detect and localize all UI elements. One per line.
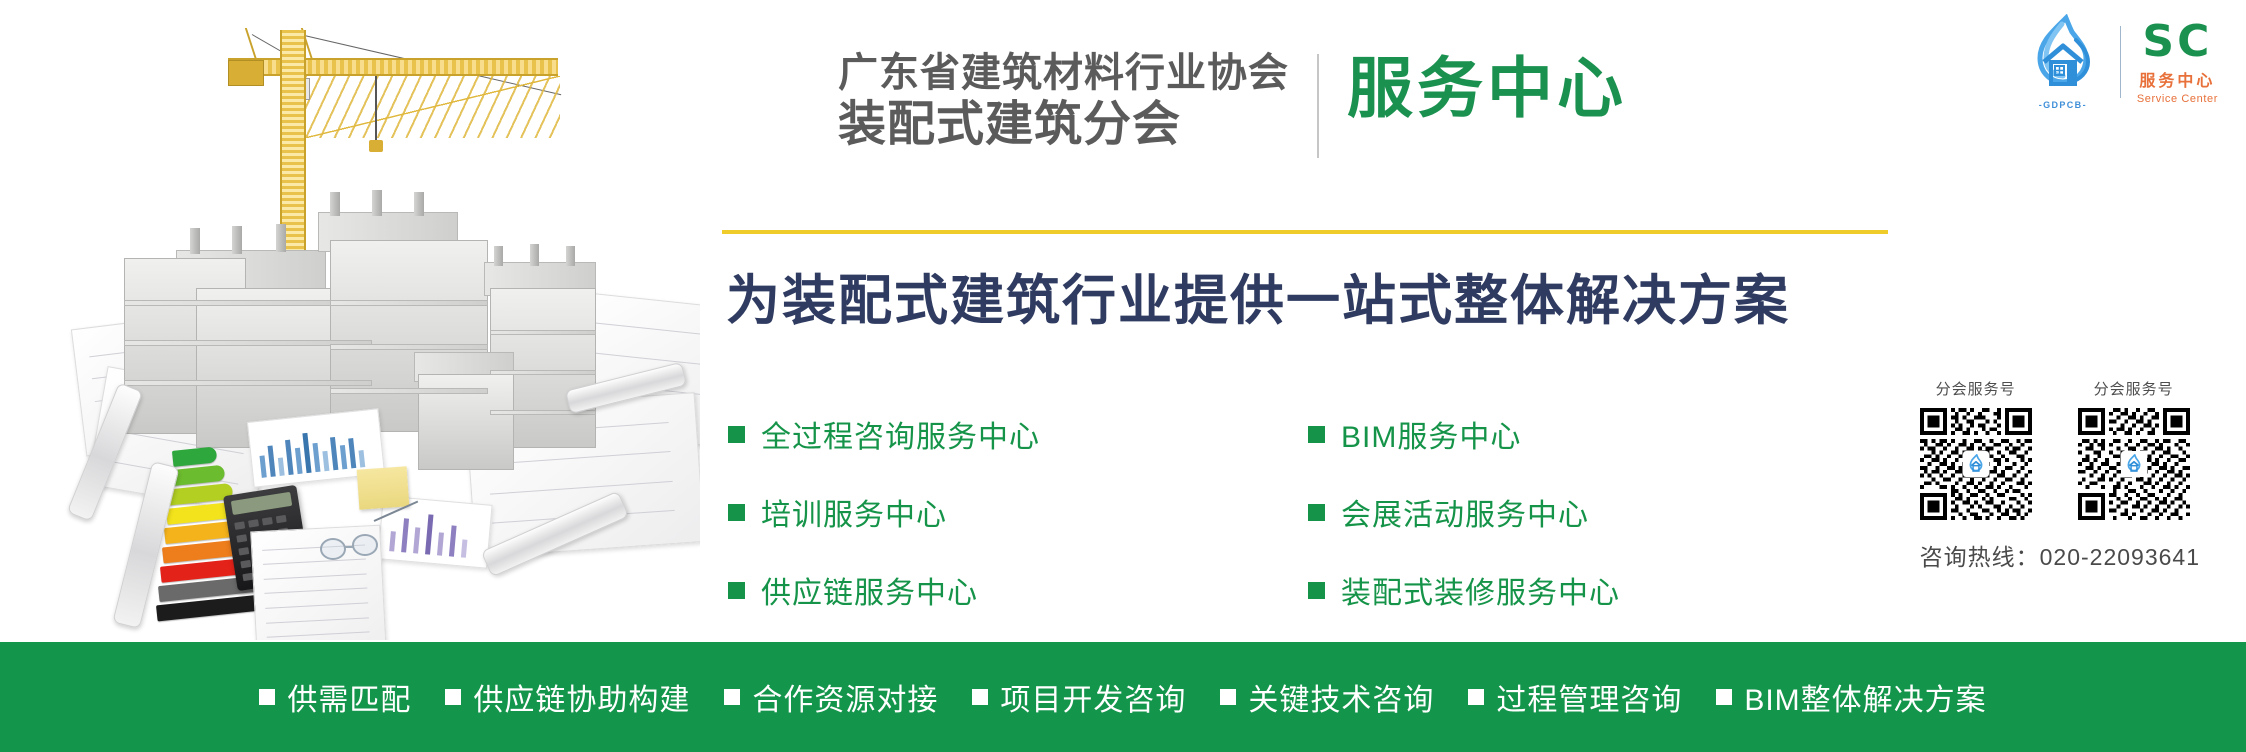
gdpcb-caption: -GDPCB-: [2022, 100, 2104, 110]
footer-item-label: 供应链协助构建: [473, 675, 690, 719]
square-bullet-icon: [972, 689, 988, 705]
tagline: 为装配式建筑行业提供一站式整体解决方案: [726, 256, 1790, 335]
qr-code-caption: 分会服务号: [1936, 378, 2016, 399]
footer-item-label: 合作资源对接: [752, 675, 938, 719]
association-name: 广东省建筑材料行业协会 装配式建筑分会: [838, 50, 1289, 153]
footer-item-label: 关键技术咨询: [1248, 675, 1434, 719]
association-name-line1: 广东省建筑材料行业协会: [838, 50, 1289, 97]
service-list-item[interactable]: 培训服务中心: [728, 490, 1308, 534]
service-list-left-column: 全过程咨询服务中心 培训服务中心 供应链服务中心: [728, 412, 1308, 612]
square-bullet-icon: [1308, 426, 1325, 443]
sc-english-label: Service Center: [2137, 93, 2218, 105]
service-center-title: 服务中心: [1347, 50, 1627, 128]
square-bullet-icon: [445, 689, 461, 705]
hotline-text: 咨询热线：020-22093641: [1920, 538, 2200, 572]
footer-service-bar: 供需匹配 供应链协助构建 合作资源对接 项目开发咨询 关键技术咨询 过程管理咨询…: [0, 642, 2246, 752]
service-center-list: 全过程咨询服务中心 培训服务中心 供应链服务中心 BIM服务中心 会展活动服务中…: [728, 412, 1620, 612]
footer-item[interactable]: 项目开发咨询: [972, 675, 1186, 719]
sc-chinese-label: 服务中心: [2139, 67, 2215, 91]
footer-item[interactable]: 过程管理咨询: [1468, 675, 1682, 719]
service-list-item-label: 装配式装修服务中心: [1341, 568, 1620, 612]
service-list-item-label: 供应链服务中心: [761, 568, 978, 612]
qr-code-caption: 分会服务号: [2094, 378, 2174, 399]
footer-item[interactable]: BIM整体解决方案: [1716, 675, 1986, 719]
service-list-item[interactable]: 会展活动服务中心: [1308, 490, 1620, 534]
service-list-item-label: 全过程咨询服务中心: [761, 412, 1040, 456]
qr-center-logo-icon: [2121, 451, 2147, 477]
square-bullet-icon: [728, 426, 745, 443]
association-name-line2: 装配式建筑分会: [838, 97, 1289, 153]
qr-contact-section: 分会服务号: [1920, 378, 2200, 572]
square-bullet-icon: [1220, 689, 1236, 705]
service-list-item[interactable]: 装配式装修服务中心: [1308, 568, 1620, 612]
footer-item[interactable]: 关键技术咨询: [1220, 675, 1434, 719]
sc-service-center-logo: SC 服务中心 Service Center: [2137, 20, 2218, 105]
qr-code-icon[interactable]: [2078, 408, 2190, 520]
blue-flame-house-icon: [2022, 14, 2104, 96]
square-bullet-icon: [1308, 504, 1325, 521]
footer-item-label: BIM整体解决方案: [1744, 675, 1986, 719]
gdpcb-logo: -GDPCB-: [2022, 14, 2104, 110]
footer-item-label: 供需匹配: [287, 675, 411, 719]
service-list-item[interactable]: 全过程咨询服务中心: [728, 412, 1308, 456]
service-list-right-column: BIM服务中心 会展活动服务中心 装配式装修服务中心: [1308, 412, 1620, 612]
promo-banner: -GDPCB- SC 服务中心 Service Center 广东省建筑材料行业…: [0, 0, 2246, 752]
brand-logo-block: -GDPCB- SC 服务中心 Service Center: [2022, 14, 2218, 110]
hero-construction-image: [0, 0, 700, 640]
qr-code-row: 分会服务号: [1920, 378, 2200, 520]
service-list-item[interactable]: BIM服务中心: [1308, 412, 1620, 456]
square-bullet-icon: [1468, 689, 1484, 705]
footer-item[interactable]: 合作资源对接: [724, 675, 938, 719]
sticky-note: [357, 466, 410, 509]
logo-divider: [2120, 26, 2121, 98]
service-list-item-label: BIM服务中心: [1341, 412, 1521, 456]
square-bullet-icon: [724, 689, 740, 705]
footer-item-label: 过程管理咨询: [1496, 675, 1682, 719]
qr-code-item[interactable]: 分会服务号: [2078, 378, 2190, 520]
qr-code-item[interactable]: 分会服务号: [1920, 378, 2032, 520]
square-bullet-icon: [728, 582, 745, 599]
yellow-divider-rule: [722, 230, 1888, 234]
footer-item[interactable]: 供应链协助构建: [445, 675, 690, 719]
square-bullet-icon: [728, 504, 745, 521]
qr-center-logo-icon: [1963, 451, 1989, 477]
association-heading-block: 广东省建筑材料行业协会 装配式建筑分会 服务中心: [838, 50, 1627, 158]
heading-separator: [1317, 54, 1319, 158]
square-bullet-icon: [1716, 689, 1732, 705]
service-list-item[interactable]: 供应链服务中心: [728, 568, 1308, 612]
footer-item[interactable]: 供需匹配: [259, 675, 411, 719]
qr-code-icon[interactable]: [1920, 408, 2032, 520]
service-list-item-label: 会展活动服务中心: [1341, 490, 1589, 534]
service-list-item-label: 培训服务中心: [761, 490, 947, 534]
square-bullet-icon: [259, 689, 275, 705]
footer-item-label: 项目开发咨询: [1000, 675, 1186, 719]
square-bullet-icon: [1308, 582, 1325, 599]
sc-abbrev: SC: [2142, 20, 2212, 64]
